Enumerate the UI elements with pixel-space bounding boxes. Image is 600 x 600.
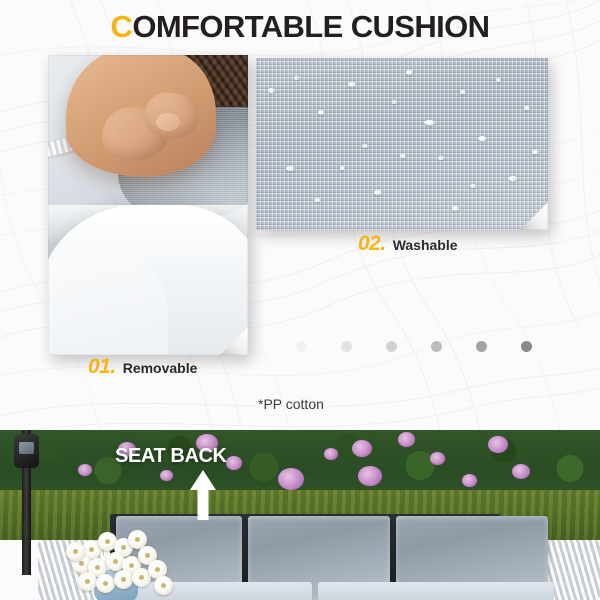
water-droplet [374,190,382,195]
white-flower [96,574,115,593]
water-droplet [392,100,397,104]
water-droplet [362,144,368,148]
lamp-lens [19,442,34,454]
page-title-rest: OMFORTABLE CUSHION [132,9,489,44]
feature-photo-washable [256,58,548,230]
arrow-up-icon [190,470,216,520]
dot-4 [431,341,442,352]
purple-flower [358,466,382,486]
water-droplet [340,166,345,170]
water-droplet [452,206,459,211]
water-droplet [478,136,487,141]
purple-flower [226,456,242,470]
water-droplet [318,110,324,115]
purple-flower [352,440,372,457]
feature-caption-removable: 01. Removable [88,355,197,379]
dot-3 [386,341,397,352]
purple-flower [78,464,92,476]
water-droplet [470,184,476,188]
water-droplet [532,150,539,154]
white-flower [154,576,173,595]
feature-number-02: 02. [358,232,386,256]
seat-back-callout-label: SEAT BACK [115,445,227,468]
purple-flower [430,452,445,465]
white-flower [66,542,85,561]
white-flower [78,572,97,591]
water-droplet [294,76,299,80]
water-droplet [314,198,321,202]
purple-flower [160,470,173,481]
purple-flower [462,474,477,487]
purple-flower [324,448,338,460]
product-feature-page: COMFORTABLE CUSHION [0,0,600,600]
dot-5 [476,341,487,352]
white-flower-bouquet [64,530,176,588]
feature-label-removable: Removable [123,360,198,376]
water-droplet [508,176,518,181]
feature-photo-removable [48,55,248,355]
dot-sequence [296,341,532,353]
feature-label-washable: Washable [393,237,458,253]
water-droplet [524,106,530,110]
footnote-pp-cotton: *PP cotton [258,396,324,412]
water-droplet [286,166,295,171]
dot-6 [521,341,532,352]
purple-flower [488,436,508,453]
dot-1 [296,341,307,352]
water-droplet [268,88,275,93]
water-droplet [460,90,466,94]
lifestyle-photo-outdoor-sofa [0,430,600,600]
page-title-accent-letter: C [111,9,133,44]
purple-flower [398,432,415,447]
seat-cushion-2 [318,582,554,600]
water-droplet [400,154,406,158]
dot-2 [341,341,352,352]
water-droplet [406,70,413,75]
photo1-sheen [48,205,248,245]
purple-flower [512,464,530,479]
purple-flower [278,468,304,490]
water-droplet [496,78,501,82]
water-droplet [438,156,444,160]
fabric-weave-texture [256,58,548,230]
water-droplet [424,120,436,125]
feature-number-01: 01. [88,355,116,379]
page-title: COMFORTABLE CUSHION [0,6,600,48]
fingernail [156,113,180,131]
white-flower [114,570,133,589]
water-droplet [348,82,356,87]
feature-caption-washable: 02. Washable [358,232,458,256]
